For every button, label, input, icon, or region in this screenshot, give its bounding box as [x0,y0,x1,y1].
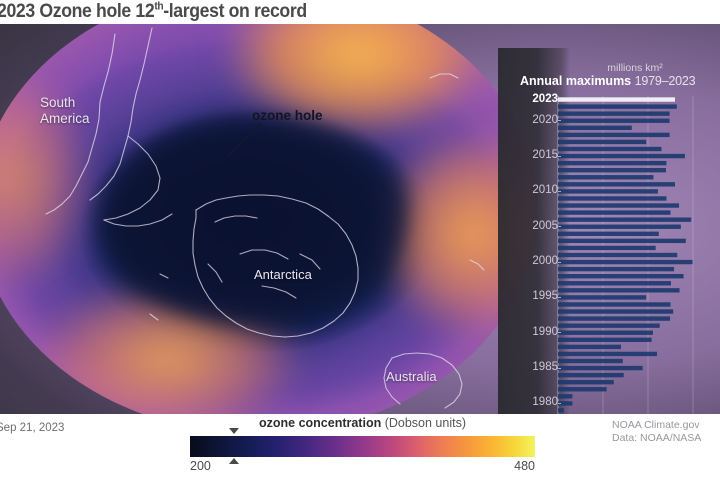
chart-bar [558,387,607,391]
chart-year-label: 2015 [514,150,558,161]
chart-bar [558,331,653,335]
chart-bar [558,126,632,130]
chart-year-label: 2005 [514,221,558,232]
chart-bar [558,267,674,271]
chart-year-label: 2010 [514,185,558,196]
footer: Sep 21, 2023 ozone concentration (Dobson… [0,414,720,478]
chart-bar [558,175,653,179]
map-label-australia: Australia [386,369,437,385]
chart-bar [558,352,657,356]
page-title-superscript: th [154,1,163,13]
chart-year-tick [558,156,561,157]
chart-bar [558,288,680,292]
chart-year-label: 2023 [514,94,558,105]
chart-bar [558,338,652,342]
credit-block: NOAA Climate.gov Data: NOAA/NASA [612,419,701,445]
chart-year-label: 2020 [514,115,558,126]
chart-year-labels: 2023202020152010200520001995199019851980 [506,96,558,414]
map-label-ozone-hole: ozone hole [252,108,323,124]
chart-bar [558,119,670,123]
colorbar-title-strong: ozone concentration [259,416,381,430]
chart-year-tick [558,368,561,369]
title-bar: 2023 Ozone hole 12th-largest on record [0,0,720,24]
chart-bar [558,161,666,165]
chart-year-tick [558,297,561,298]
chart-bar [558,316,670,320]
chart-year-tick [558,403,561,404]
chart-bar [558,366,643,370]
page-title: 2023 Ozone hole 12th-largest on record [0,1,307,23]
chart-bar [558,140,646,144]
infographic-root: 2023 Ozone hole 12th-largest on record [0,0,720,478]
chart-bar [558,309,673,313]
chart-bar [558,217,691,221]
chart-year-label: 1990 [514,327,558,338]
chart-title: Annual maximums 1979–2023 [520,74,695,88]
chart-bar [558,104,677,108]
chart-bar [558,345,621,349]
chart-year-label: 1980 [514,397,558,408]
chart-bar [558,203,679,207]
chart-bar [558,295,646,299]
colorbar-max-label: 480 [514,459,535,473]
page-title-suffix: -largest on record [163,1,307,22]
chart-year-tick [558,120,561,121]
map-label-antarctica: Antarctica [254,267,312,283]
chart-year-tick [558,332,561,333]
credit-line-2: Data: NOAA/NASA [612,432,701,445]
chart-bar [558,189,658,193]
chart-bar [558,253,677,257]
chart-bar [558,147,662,151]
page-title-prefix: 2023 Ozone hole 12 [0,1,154,22]
colorbar-min-label: 200 [190,459,211,473]
chart-bar [558,260,693,264]
chart-year-label: 2000 [514,256,558,267]
chart-bar [558,274,684,278]
colorbar-title: ozone concentration (Dobson units) [190,416,535,430]
chart-bar [558,359,623,363]
chart-bar [558,302,671,306]
chart-x-axis-label: millions km² [498,62,720,74]
ozone-colorbar: ozone concentration (Dobson units) 200 4… [190,416,535,476]
chart-bar [558,281,671,285]
chart-bar [558,168,666,172]
chart-bar [558,182,675,186]
colorbar-marker-bottom-icon [229,458,239,464]
ozone-map: ozone hole South America Antarctica Aust… [0,24,720,414]
chart-bar [558,225,681,229]
chart-year-tick [558,262,561,263]
chart-title-strong: Annual maximums [520,74,631,88]
chart-year-label: 1985 [514,362,558,373]
colorbar-gradient [190,436,535,457]
chart-year-tick [558,191,561,192]
chart-bar [558,196,666,200]
chart-year-tick [558,226,561,227]
ozone-hole-leader-line [227,123,261,157]
chart-bar [558,210,671,214]
map-label-south-america-line1: South [40,95,90,111]
annual-maximums-chart: Annual maximums 1979–2023 20232020201520… [498,48,720,414]
chart-bar [558,239,686,243]
chart-bar [558,323,660,327]
colorbar-marker-top-icon [229,428,239,434]
map-label-south-america-line2: America [40,111,90,127]
map-date-label: Sep 21, 2023 [0,422,64,434]
chart-bar [558,373,624,377]
chart-bar [558,97,675,101]
chart-year-tick [558,99,561,100]
chart-bar [558,408,564,412]
chart-title-range: 1979–2023 [635,74,696,88]
chart-bar [558,154,685,158]
chart-bar [558,232,659,236]
chart-bar [558,394,572,398]
chart-year-label: 1995 [514,291,558,302]
map-label-south-america: South America [40,95,90,128]
chart-bar [558,246,656,250]
chart-bar [558,133,670,137]
credit-line-1: NOAA Climate.gov [612,419,701,432]
colorbar-title-units: (Dobson units) [385,416,466,430]
chart-bar [558,111,670,115]
chart-bar [558,380,614,384]
